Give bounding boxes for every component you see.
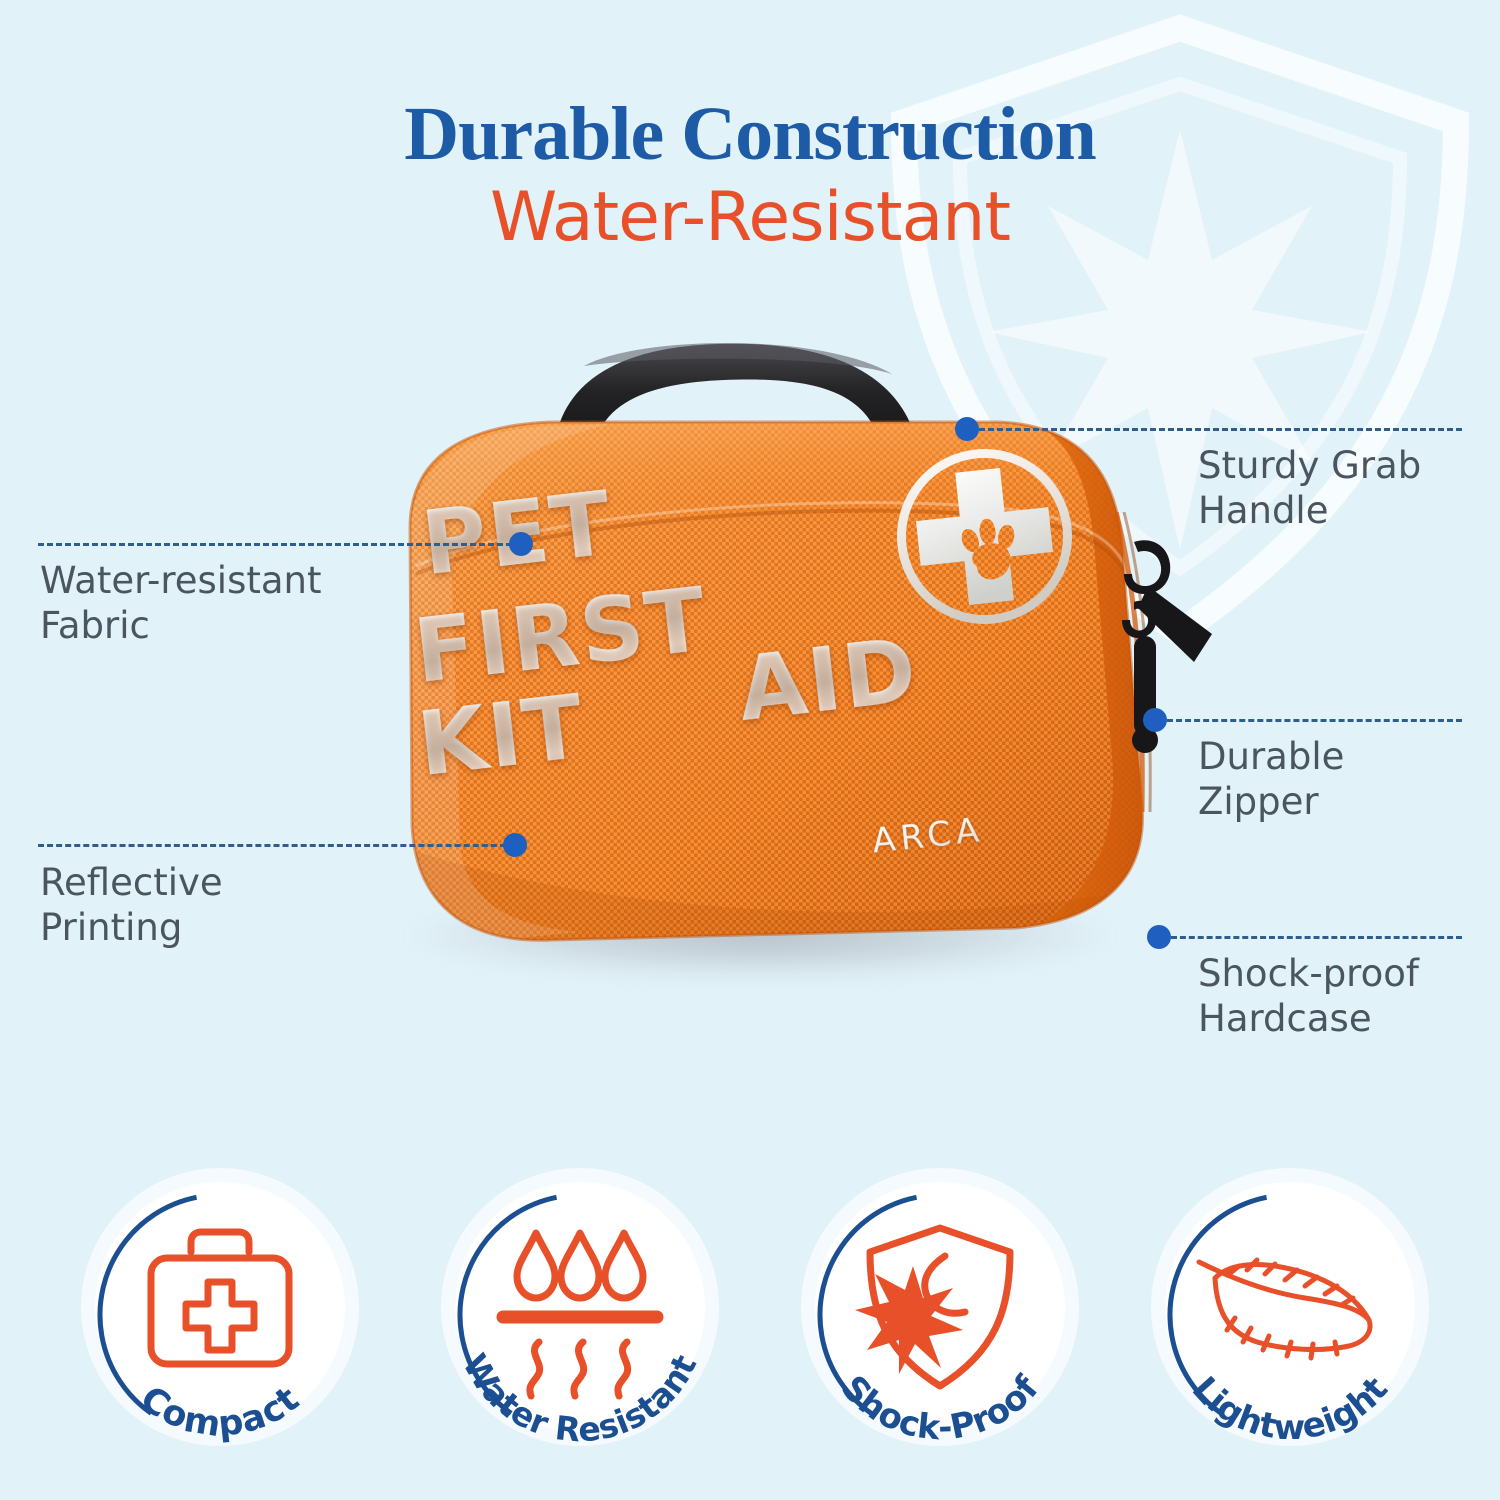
svg-text:Shock-Proof: Shock-Proof xyxy=(833,1368,1048,1449)
svg-text:Lightweight: Lightweight xyxy=(1184,1369,1396,1448)
callout-line xyxy=(38,543,521,546)
badge-label-shock-proof: Shock-Proof xyxy=(833,1368,1048,1449)
callout-line xyxy=(1167,719,1462,722)
callout-line xyxy=(1171,936,1462,939)
callout-label-reflective-printing: Reflective Printing xyxy=(40,860,440,950)
badge-lightweight[interactable]: Lightweight xyxy=(1145,1170,1435,1460)
shield-impact-icon xyxy=(855,1228,1010,1386)
svg-text:Compact: Compact xyxy=(133,1379,308,1446)
callout-label-durable-zipper: Durable Zipper xyxy=(1198,734,1498,824)
first-aid-case-icon xyxy=(151,1232,289,1364)
badge-lightweight-graphic: Lightweight xyxy=(1145,1170,1435,1460)
bag-body xyxy=(400,416,1160,946)
badge-compact-graphic: Compact xyxy=(75,1170,365,1460)
badge-compact[interactable]: Compact xyxy=(75,1170,365,1460)
page-title: Durable Construction xyxy=(0,96,1500,174)
callout-dot xyxy=(955,417,979,441)
badge-shock-proof[interactable]: Shock-Proof xyxy=(795,1170,1085,1460)
heading-block: Durable Construction Water-Resistant xyxy=(0,96,1500,256)
callout-dot xyxy=(1147,925,1171,949)
feather-icon xyxy=(1199,1260,1370,1358)
badge-water-resistant[interactable]: Water Resistant xyxy=(435,1170,725,1460)
callout-line xyxy=(979,428,1462,431)
callout-dot xyxy=(503,833,527,857)
badge-label-lightweight: Lightweight xyxy=(1184,1369,1396,1448)
badge-label-compact: Compact xyxy=(133,1379,308,1446)
badge-water-resistant-graphic: Water Resistant xyxy=(435,1170,725,1460)
infographic-root: Durable Construction Water-Resistant xyxy=(0,0,1500,1500)
badge-shock-proof-graphic: Shock-Proof xyxy=(795,1170,1085,1460)
callout-label-shock-proof-hardcase: Shock-proof Hardcase xyxy=(1198,951,1500,1041)
callout-label-sturdy-grab-handle: Sturdy Grab Handle xyxy=(1198,443,1498,533)
callout-line xyxy=(38,844,515,847)
product-image: PET FIRST AID KIT ARCA xyxy=(355,330,1195,1070)
water-droplets-barrier-icon xyxy=(503,1233,657,1396)
callout-dot xyxy=(509,532,533,556)
feature-badges: Compact xyxy=(0,1160,1500,1490)
page-subtitle: Water-Resistant xyxy=(0,180,1500,256)
callout-dot xyxy=(1143,708,1167,732)
callout-label-water-resistant-fabric: Water-resistant Fabric xyxy=(40,558,440,648)
